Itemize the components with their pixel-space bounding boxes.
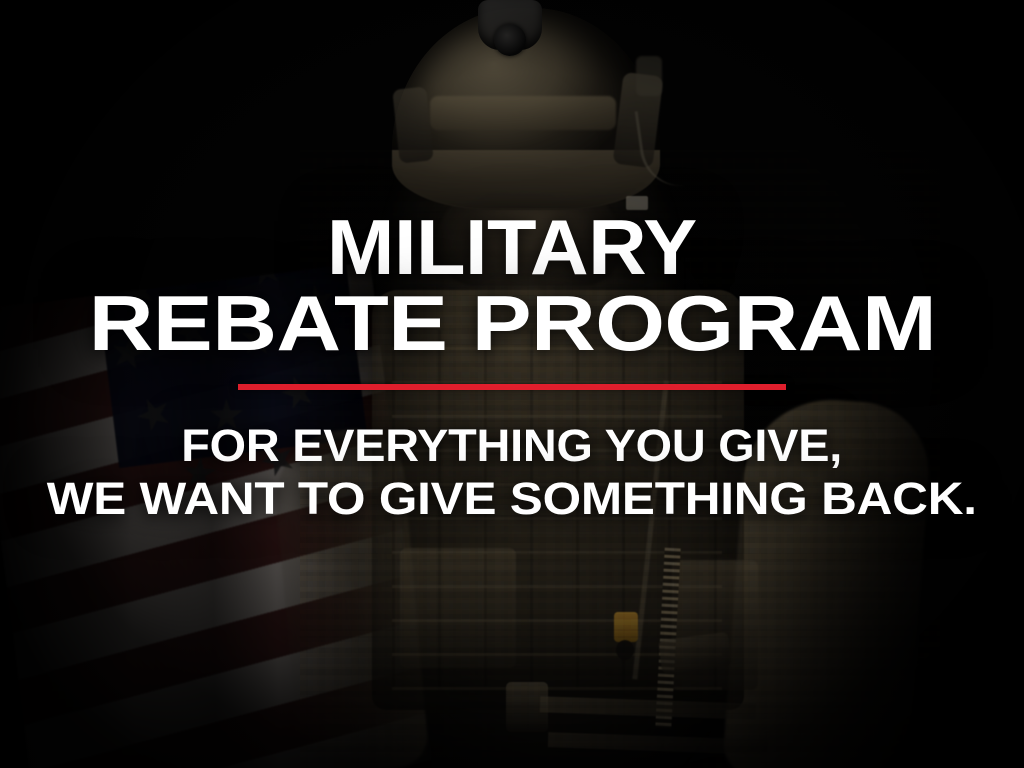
poster-content: MILITARY REBATE PROGRAM FOR EVERYTHING Y… [0,0,1024,768]
headline-line-1: MILITARY [327,212,697,284]
headline-line-2: REBATE PROGRAM [88,288,935,360]
poster-canvas: MILITARY REBATE PROGRAM FOR EVERYTHING Y… [0,0,1024,768]
subheadline-line-1: FOR EVERYTHING YOU GIVE, [182,423,843,469]
subheadline-line-2: WE WANT TO GIVE SOMETHING BACK. [47,476,977,522]
red-divider-rule [238,384,786,390]
